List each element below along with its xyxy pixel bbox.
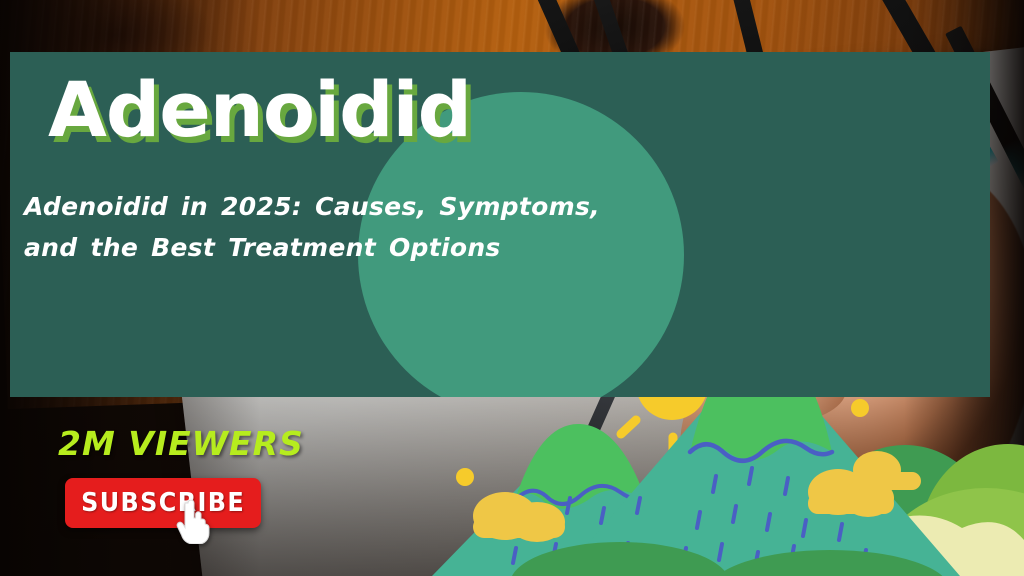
dot-icon	[456, 468, 474, 486]
subscribe-button[interactable]: SUBSCRIBE	[65, 478, 261, 528]
subscribe-button-label: SUBSCRIBE	[81, 488, 245, 518]
dot-icon	[851, 399, 869, 417]
hand-pointer-icon	[176, 500, 210, 544]
page-subtitle: Adenoidid in 2025: Causes, Symptoms, and…	[24, 186, 664, 269]
page-title: Adenoidid	[48, 72, 471, 148]
youtube-thumbnail: Adenoidid Adenoidid in 2025: Causes, Sym…	[0, 0, 1024, 576]
viewer-count-label: 2M VIEWERS	[58, 424, 304, 463]
